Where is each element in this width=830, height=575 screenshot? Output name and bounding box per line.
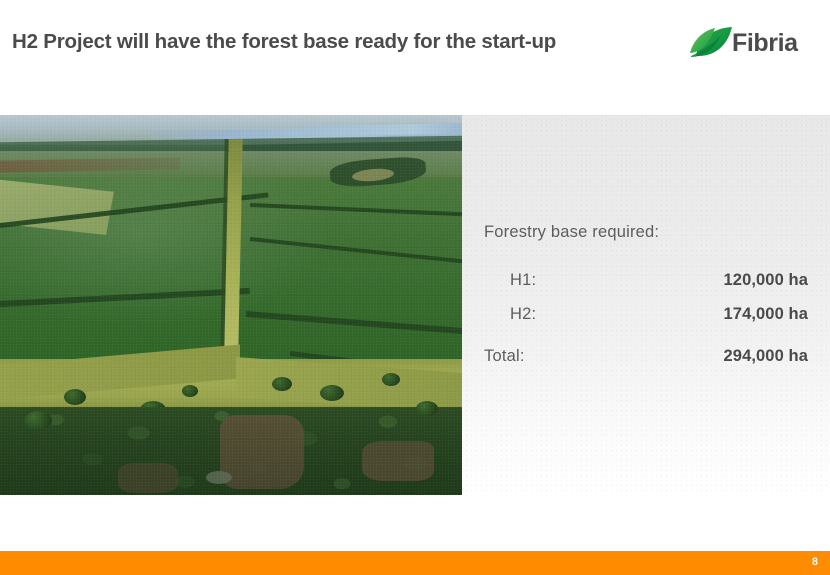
forestry-info-panel: Forestry base required: H1: 120,000 ha H… xyxy=(462,115,830,495)
photo-tree xyxy=(320,385,344,401)
photo-tree xyxy=(416,401,438,416)
photo-pond xyxy=(206,471,232,484)
photo-bare-soil xyxy=(362,441,434,481)
forestry-row-total-value: 294,000 ha xyxy=(724,347,808,366)
forestry-row-h2-label: H2: xyxy=(510,305,536,324)
forestry-row-total-label: Total: xyxy=(484,347,525,366)
aerial-forest-photo xyxy=(0,115,462,495)
fibria-wordmark: Fibria xyxy=(732,27,798,59)
fibria-logo: Fibria xyxy=(688,22,822,66)
forestry-row-h1-label: H1: xyxy=(510,271,536,290)
forestry-base-heading: Forestry base required: xyxy=(484,223,659,242)
fibria-leaf-mark-icon xyxy=(688,26,736,62)
photo-bare-soil xyxy=(118,463,178,493)
forestry-row-h1: H1: 120,000 ha xyxy=(484,271,808,297)
photo-tree xyxy=(182,385,198,397)
photo-tree xyxy=(272,377,292,391)
page-number: 8 xyxy=(812,555,818,569)
photo-tree xyxy=(24,411,52,430)
forestry-row-h1-value: 120,000 ha xyxy=(724,271,808,290)
slide-header: H2 Project will have the forest base rea… xyxy=(0,0,830,100)
forestry-row-h2: H2: 174,000 ha xyxy=(484,305,808,331)
photo-bare-soil xyxy=(220,415,304,489)
photo-tree xyxy=(382,373,400,386)
forestry-row-total: Total: 294,000 ha xyxy=(484,347,808,373)
slide-canvas: H2 Project will have the forest base rea… xyxy=(0,0,830,575)
panel-content: Forestry base required: H1: 120,000 ha H… xyxy=(462,115,830,495)
page-title: H2 Project will have the forest base rea… xyxy=(12,28,662,56)
footer-bar: 8 xyxy=(0,551,830,575)
forestry-row-h2-value: 174,000 ha xyxy=(724,305,808,324)
